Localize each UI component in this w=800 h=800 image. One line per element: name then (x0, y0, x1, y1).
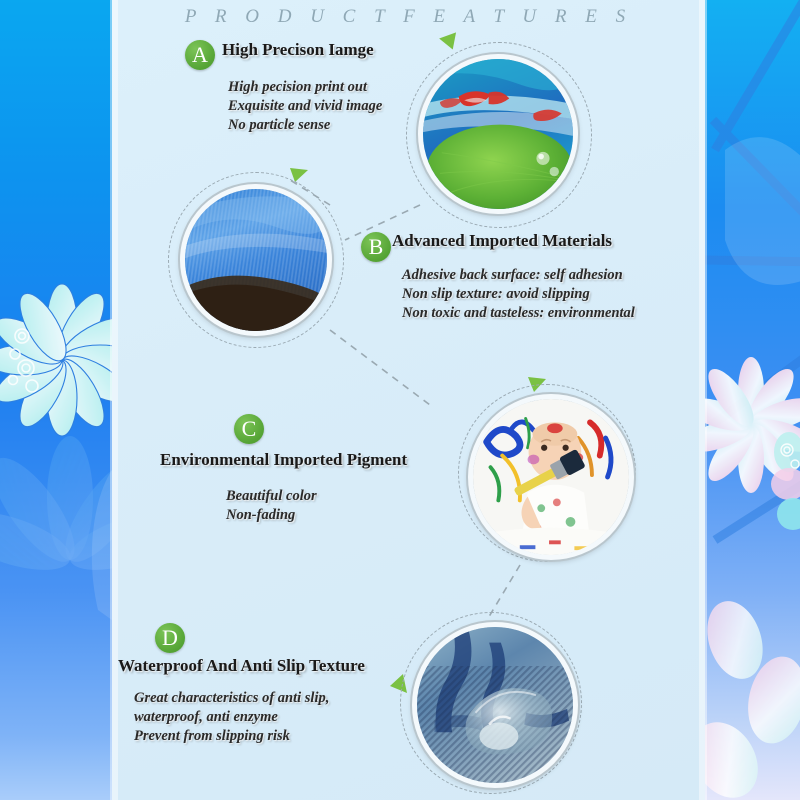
feature-body-d: Great characteristics of anti slip, wate… (134, 689, 329, 746)
flower-pinwheel-icon-left (0, 284, 112, 436)
feature-a-line-2: Exquisite and vivid image (228, 97, 382, 116)
feature-b-line-1: Adhesive back surface: self adhesion (402, 266, 635, 285)
right-seam (699, 0, 707, 800)
droplet-photo-art (417, 627, 573, 783)
feature-badge-d: D (155, 623, 185, 653)
feature-heading-a: High Precison Iamge (222, 40, 374, 60)
left-band-graphics (0, 0, 112, 800)
feature-badge-b: B (361, 232, 391, 262)
product-features-poster: P R O D U C T F E A T U R E S (0, 0, 800, 800)
feature-d-line-1: Great characteristics of anti slip, (134, 689, 329, 708)
flower-ornament-icon-right (771, 432, 800, 530)
baby-photo-art (473, 399, 629, 555)
right-band-graphics (705, 0, 800, 800)
right-decorative-band (705, 0, 800, 800)
feature-d-line-3: Prevent from slipping risk (134, 727, 329, 746)
feature-c-line-2: Non-fading (226, 506, 317, 525)
page-title: P R O D U C T F E A T U R E S (112, 6, 705, 28)
water-droplet-surface-photo (412, 622, 578, 788)
left-seam (110, 0, 118, 800)
feature-heading-b: Advanced Imported Materials (392, 231, 612, 251)
feature-badge-c: C (234, 414, 264, 444)
feature-heading-d: Waterproof And Anti Slip Texture (118, 656, 365, 676)
left-decorative-band (0, 0, 112, 800)
feature-b-line-3: Non toxic and tasteless: environmental (402, 304, 635, 323)
feature-body-b: Adhesive back surface: self adhesion Non… (402, 266, 635, 323)
feature-heading-c: Environmental Imported Pigment (160, 450, 407, 470)
feature-a-line-1: High pecision print out (228, 78, 382, 97)
feature-c-line-1: Beautiful color (226, 487, 317, 506)
fabric-photo-art (185, 189, 327, 331)
feature-b-line-2: Non slip texture: avoid slipping (402, 285, 635, 304)
feature-a-line-3: No particle sense (228, 116, 382, 135)
koi-fish-pond-print-photo (418, 54, 578, 214)
feature-d-line-2: waterproof, anti enzyme (134, 708, 329, 727)
blue-textured-fabric-photo (180, 184, 332, 336)
feature-body-a: High pecision print out Exquisite and vi… (228, 78, 382, 135)
baby-with-paintbrush-photo (468, 394, 634, 560)
feature-badge-a: A (185, 40, 215, 70)
feature-body-c: Beautiful color Non-fading (226, 487, 317, 525)
koi-photo-art (423, 59, 573, 209)
